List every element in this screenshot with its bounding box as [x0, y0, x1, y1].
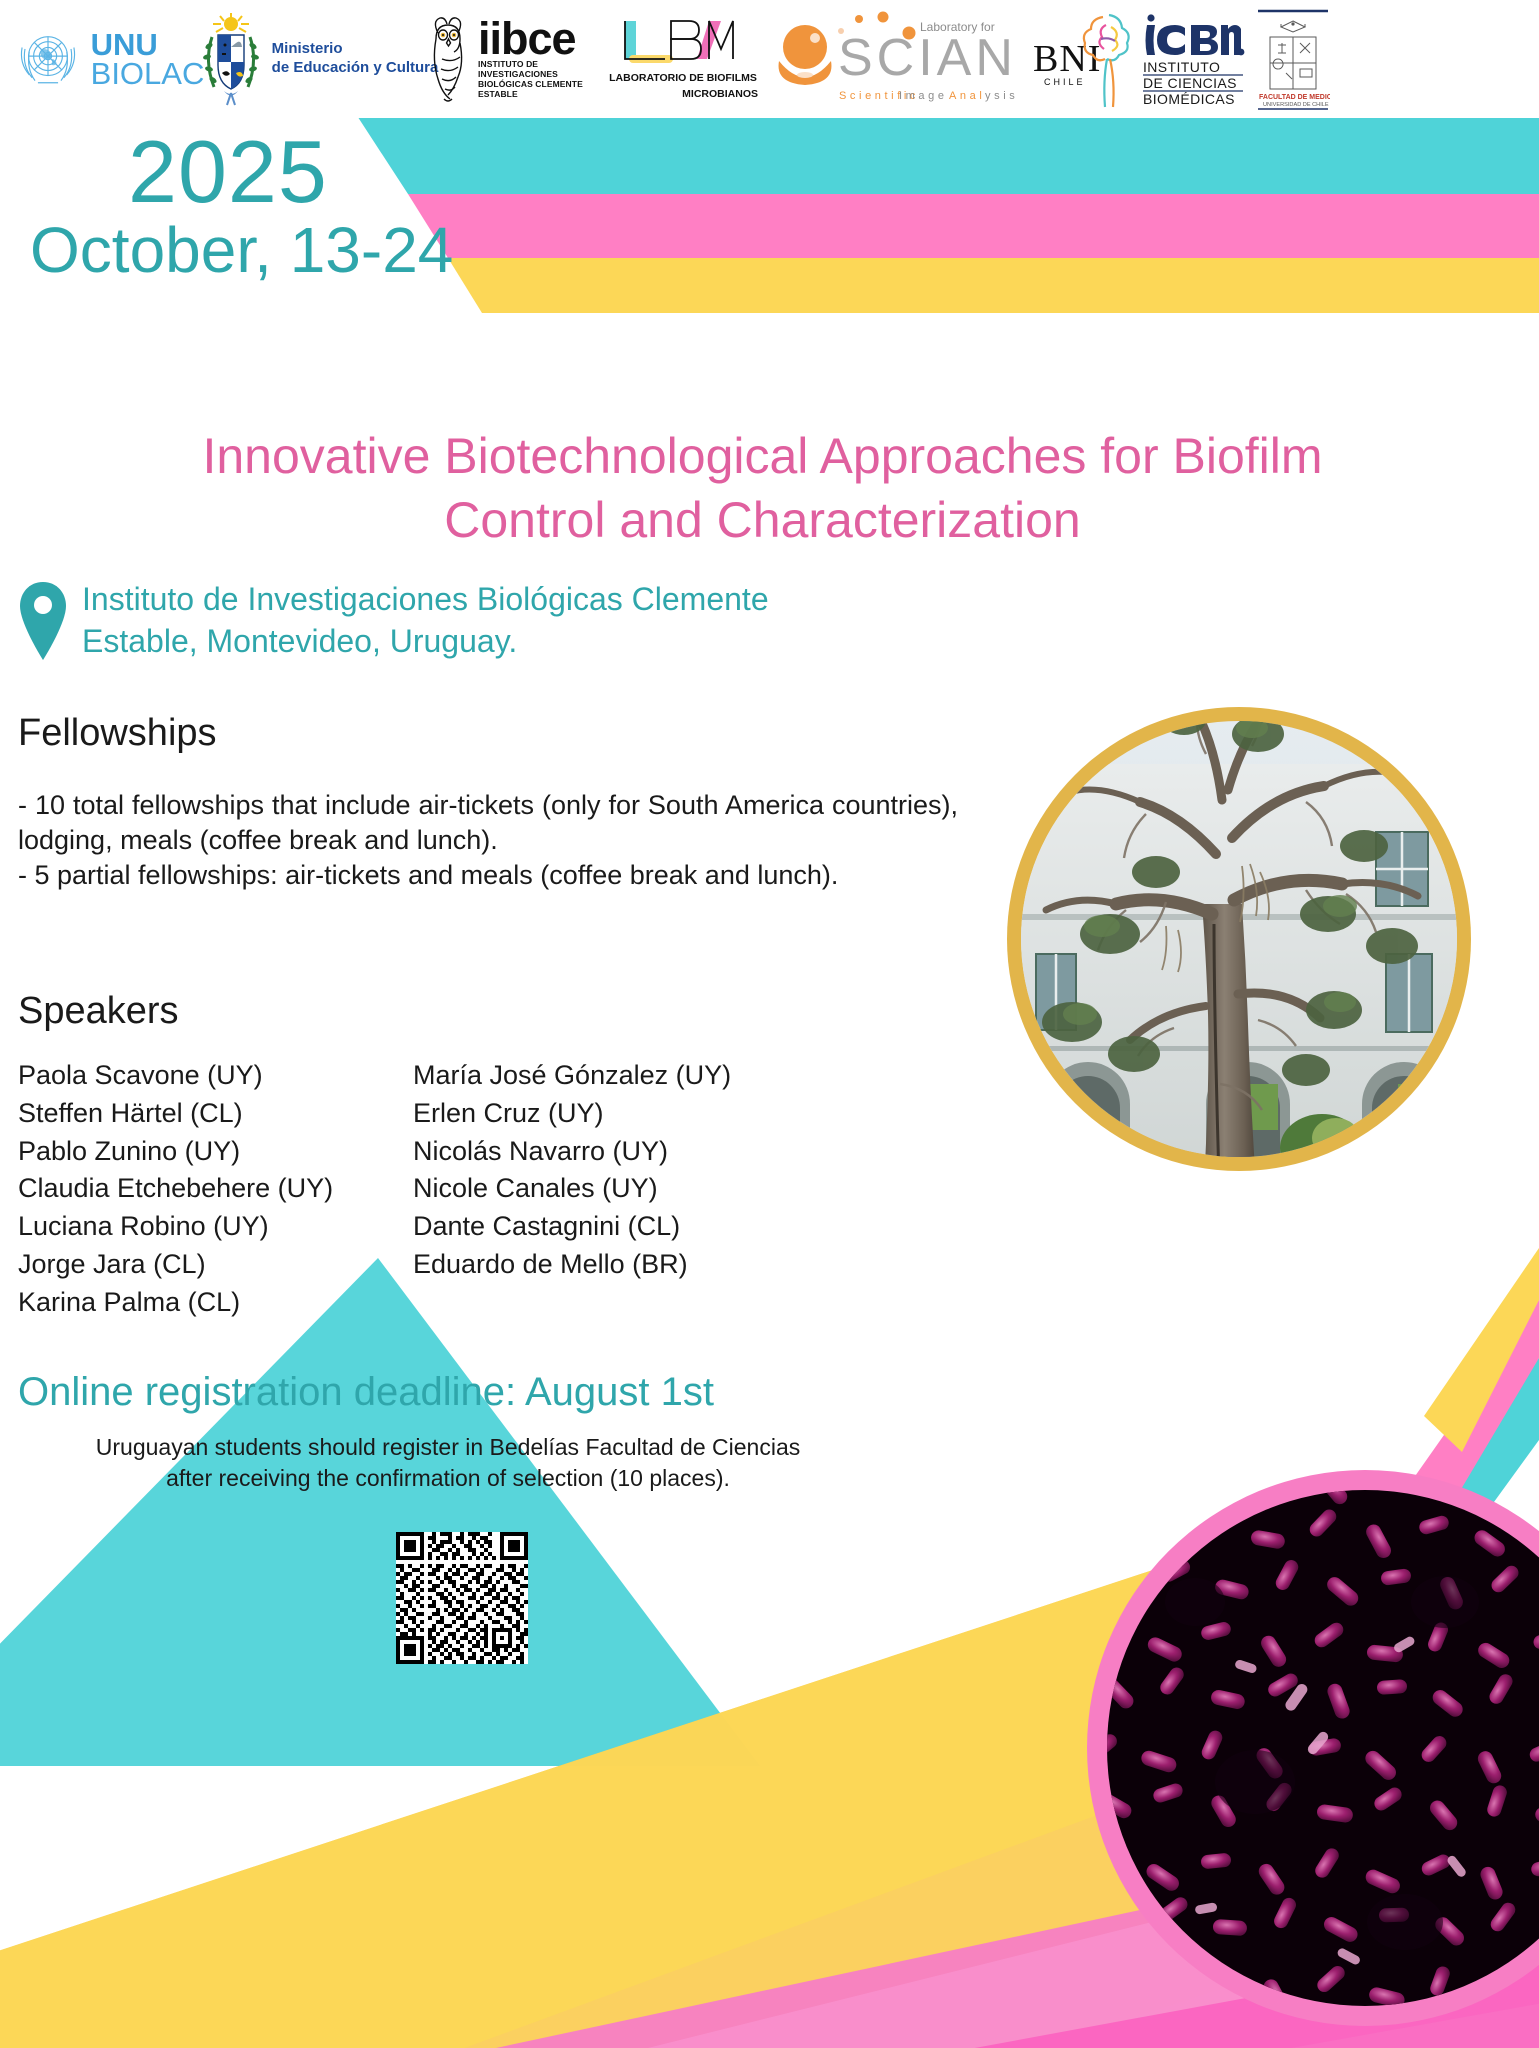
- uchile-medicine-seal-icon: FACULTAD DE MEDICINA UNIVERSIDAD DE CHIL…: [1256, 7, 1330, 111]
- lbm-line1: LABORATORIO DE BIOFILMS: [609, 72, 757, 85]
- speaker-name-empty: [413, 1284, 798, 1322]
- unu-biolac-logo: UNU BIOLAC: [0, 4, 208, 114]
- icbm-wordmark-icon: INSTITUTO DE CIENCIAS BIOMÉDICAS: [1141, 9, 1245, 109]
- registration-qr-code[interactable]: [396, 1532, 528, 1664]
- speaker-name: Paola Scavone (UY): [18, 1057, 413, 1095]
- svg-text:ysis: ysis: [985, 90, 1018, 102]
- icbm-logo: INSTITUTO DE CIENCIAS BIOMÉDICAS: [1138, 4, 1248, 114]
- speaker-name: Nicole Canales (UY): [413, 1170, 798, 1208]
- registration-note-line-2: after receiving the confirmation of sele…: [18, 1463, 878, 1494]
- scian-mark-icon: SCIAN Laboratory for Scientific Image An…: [763, 9, 1023, 109]
- title-line-2: Control and Characterization: [20, 488, 1505, 552]
- speaker-name: Claudia Etchebehere (UY): [18, 1170, 413, 1208]
- speaker-name: María José Gónzalez (UY): [413, 1057, 798, 1095]
- speaker-name: Luciana Robino (UY): [18, 1208, 413, 1246]
- svg-text:INSTITUTO: INSTITUTO: [1143, 59, 1220, 75]
- iibce-wordmark: iibce: [478, 19, 608, 59]
- speaker-name: Dante Castagnini (CL): [413, 1208, 798, 1246]
- fellowship-item-2: - 5 partial fellowships: air-tickets and…: [18, 858, 958, 893]
- iibce-logo: iibce INSTITUTO DE INVESTIGACIONES BIOLÓ…: [428, 4, 608, 114]
- speaker-name: Nicolás Navarro (UY): [413, 1133, 798, 1171]
- page-title: Innovative Biotechnological Approaches f…: [20, 424, 1505, 552]
- bni-chile-logo: BNI CHILE: [1028, 4, 1138, 114]
- venue-text: Instituto de Investigaciones Biológicas …: [82, 578, 769, 662]
- title-line-1: Innovative Biotechnological Approaches f…: [20, 424, 1505, 488]
- svg-text:Image: Image: [899, 90, 948, 102]
- map-pin-icon: [18, 580, 68, 662]
- speaker-name: Erlen Cruz (UY): [413, 1095, 798, 1133]
- speaker-name: Karina Palma (CL): [18, 1284, 413, 1322]
- speakers-list: Paola Scavone (UY) María José Gónzalez (…: [18, 1057, 798, 1322]
- ministerio-line2: de Educación y Cultura: [272, 59, 439, 78]
- venue-location: Instituto de Investigaciones Biológicas …: [18, 578, 958, 662]
- speakers-heading: Speakers: [18, 990, 179, 1033]
- unu-line1: UNU: [91, 30, 205, 59]
- owl-icon: [428, 13, 474, 105]
- lbm-monogram-icon: [621, 17, 746, 69]
- venue-line-1: Instituto de Investigaciones Biológicas …: [82, 578, 769, 620]
- conference-poster: UNU BIOLAC: [0, 0, 1539, 2048]
- speaker-name: Steffen Härtel (CL): [18, 1095, 413, 1133]
- fellowships-heading: Fellowships: [18, 712, 217, 755]
- scian-logo: SCIAN Laboratory for Scientific Image An…: [758, 4, 1028, 114]
- speaker-name: Pablo Zunino (UY): [18, 1133, 413, 1171]
- year-heading: 2025: [128, 128, 328, 216]
- svg-text:SCIAN: SCIAN: [838, 29, 1017, 87]
- ministerio-educacion-cultura-logo: Ministerio de Educación y Cultura: [208, 4, 428, 114]
- fellowships-body: - 10 total fellowships that include air-…: [18, 788, 958, 893]
- un-emblem-icon: [12, 23, 84, 95]
- svg-text:BIOMÉDICAS: BIOMÉDICAS: [1143, 91, 1235, 107]
- registration-deadline: Online registration deadline: August 1st: [18, 1370, 714, 1415]
- uruguay-coat-of-arms-icon: [198, 11, 264, 107]
- fluorescence-micrograph-bacteria-rods: [1075, 1452, 1539, 2048]
- speaker-name: Eduardo de Mello (BR): [413, 1246, 798, 1284]
- lbm-logo: LABORATORIO DE BIOFILMS MICROBIANOS: [608, 4, 758, 114]
- facultad-medicina-uchile-logo: FACULTAD DE MEDICINA UNIVERSIDAD DE CHIL…: [1248, 4, 1338, 114]
- svg-text:CHILE: CHILE: [1044, 77, 1086, 87]
- iibce-line2: BIOLÓGICAS CLEMENTE ESTABLE: [478, 79, 608, 99]
- sponsor-logo-bar: UNU BIOLAC: [0, 0, 1539, 118]
- svg-text:BNI: BNI: [1033, 38, 1101, 80]
- fellowship-item-1: - 10 total fellowships that include air-…: [18, 788, 958, 858]
- venue-line-2: Estable, Montevideo, Uruguay.: [82, 620, 769, 662]
- speaker-name: Jorge Jara (CL): [18, 1246, 413, 1284]
- ministerio-line1: Ministerio: [272, 40, 439, 59]
- svg-text:FACULTAD DE MEDICINA: FACULTAD DE MEDICINA: [1259, 94, 1330, 101]
- svg-text:DE CIENCIAS: DE CIENCIAS: [1143, 75, 1237, 91]
- lbm-line2: MICROBIANOS: [682, 88, 758, 101]
- unu-line2: BIOLAC: [91, 59, 205, 88]
- svg-text:Laboratory for: Laboratory for: [920, 20, 995, 34]
- iibce-line1: INSTITUTO DE INVESTIGACIONES: [478, 59, 608, 79]
- date-range: October, 13-24: [30, 218, 453, 282]
- bni-brain-icon: BNI CHILE: [1031, 9, 1136, 109]
- iibce-building-courtyard-tree-photo: [1006, 614, 1472, 1264]
- svg-text:UNIVERSIDAD DE CHILE: UNIVERSIDAD DE CHILE: [1263, 102, 1329, 108]
- registration-note: Uruguayan students should register in Be…: [18, 1432, 878, 1494]
- registration-note-line-1: Uruguayan students should register in Be…: [18, 1432, 878, 1463]
- svg-text:Anal: Anal: [949, 90, 985, 102]
